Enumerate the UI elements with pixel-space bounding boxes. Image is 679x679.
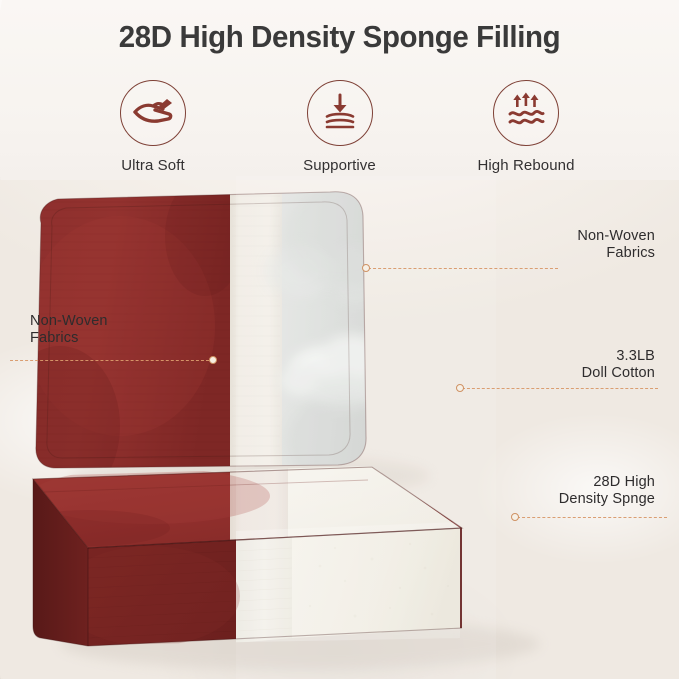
leader-line-doll-cotton <box>462 388 658 389</box>
feature-supportive: Supportive <box>265 80 415 174</box>
arrows-up-waves-icon <box>505 92 547 135</box>
feature-high-rebound-badge <box>493 80 559 146</box>
feature-row: Ultra Soft Supportive <box>78 80 601 174</box>
feature-ultra-soft-badge <box>120 80 186 146</box>
leader-dot-doll-cotton <box>456 384 464 392</box>
leader-dot-non-woven-right <box>362 264 370 272</box>
leader-line-non-woven-left <box>10 360 214 361</box>
feature-supportive-label: Supportive <box>265 157 415 174</box>
leader-line-high-density-sponge <box>517 517 667 518</box>
feature-ultra-soft-label: Ultra Soft <box>78 157 228 174</box>
page-title: 28D High Density Sponge Filling <box>17 19 662 55</box>
leader-line-non-woven-right <box>368 268 558 269</box>
annotation-high-density-sponge: 28D High Density Spnge <box>485 474 655 508</box>
annotation-non-woven-fabrics-right: Non-Woven Fabrics <box>495 228 655 262</box>
hand-cushion-icon <box>132 94 174 133</box>
product-infographic: 28D High Density Sponge Filling Ultra So… <box>0 0 679 679</box>
annotation-doll-cotton: 3.3LB Doll Cotton <box>495 348 655 382</box>
feature-high-rebound-label: High Rebound <box>451 157 601 174</box>
feature-ultra-soft: Ultra Soft <box>78 80 228 174</box>
annotation-non-woven-fabrics-left: Non-Woven Fabrics <box>30 313 150 347</box>
arrow-down-layers-icon <box>320 91 360 136</box>
leader-dot-non-woven-left <box>209 356 217 364</box>
feature-supportive-badge <box>307 80 373 146</box>
leader-dot-high-density-sponge <box>511 513 519 521</box>
feature-high-rebound: High Rebound <box>451 80 601 174</box>
